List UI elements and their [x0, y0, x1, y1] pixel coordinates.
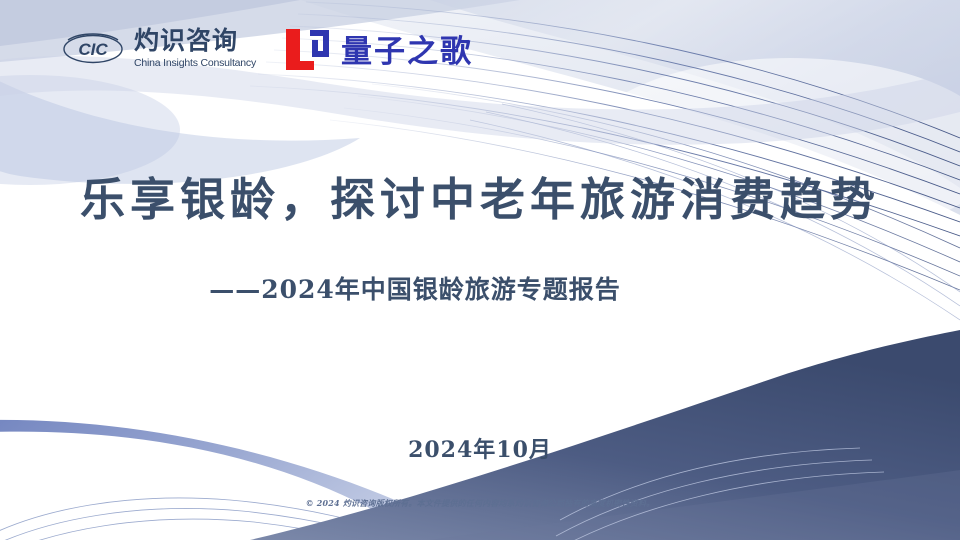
quantum-name-cn: 量子之歌 — [341, 26, 473, 71]
cic-eye-mark-icon: CIC — [62, 29, 124, 69]
logo-bar: CIC 灼识咨询 China Insights Consultancy 量子之歌 — [62, 26, 473, 71]
slide-date: 2024年10月 — [0, 432, 960, 464]
cic-name-en: China Insights Consultancy — [134, 58, 256, 69]
cic-name-cn: 灼识咨询 — [134, 29, 256, 54]
cic-logo: CIC 灼识咨询 China Insights Consultancy — [62, 29, 256, 69]
slide-main-title: 乐享银龄，探讨中老年旅游消费趋势 — [0, 163, 960, 228]
quantum-logo: 量子之歌 — [284, 26, 473, 71]
quantum-bracket-mark-icon — [284, 27, 332, 71]
copyright-notice: © 2024 灼识咨询版权所有。本文件提供的任何内容均系灼识咨询公司独有的高度机… — [0, 498, 960, 509]
svg-text:CIC: CIC — [78, 40, 108, 59]
presentation-slide: CIC 灼识咨询 China Insights Consultancy 量子之歌… — [0, 0, 960, 540]
cic-wordmark: 灼识咨询 China Insights Consultancy — [134, 29, 256, 69]
slide-subtitle: ——2024年中国银龄旅游专题报告 — [0, 270, 960, 306]
